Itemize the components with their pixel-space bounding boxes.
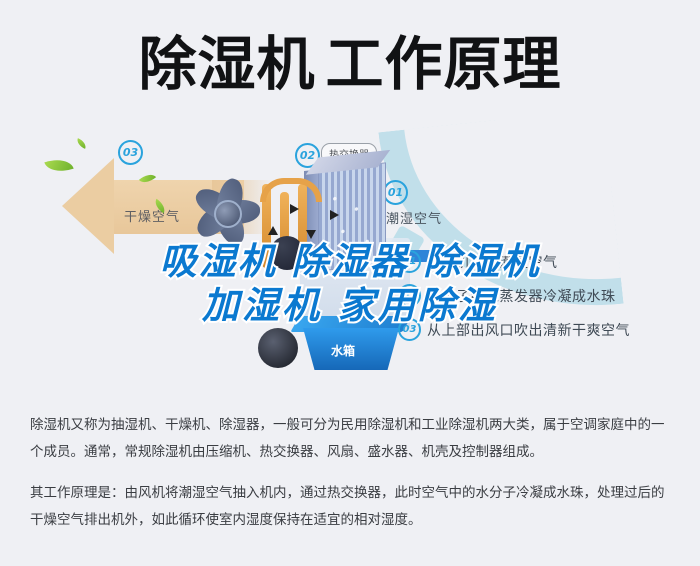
page-title: 除湿机工作原理 — [138, 35, 561, 93]
dry-air-arrow-head — [62, 158, 114, 254]
wheel-icon — [258, 328, 298, 368]
legend-number: 03 — [398, 318, 421, 341]
dry-air-label: 干燥空气 — [124, 206, 180, 225]
leaf-icon — [75, 138, 88, 149]
page-title-bar: 除湿机工作原理 — [0, 18, 700, 110]
dehumidifier-diagram: 干燥空气 03 02 01 热交换器 — [0, 118, 700, 400]
description-paragraph-2: 其工作原理是：由风机将潮湿空气抽入机内，通过热交换器，此时空气中的水分子冷凝成水… — [30, 480, 675, 534]
description-paragraph-1: 除湿机又称为抽湿机、干燥机、除湿器，一般可分为民用除湿机和工业除湿机两大类，属于… — [30, 412, 675, 466]
step-legend: 01 由风机吸入潮湿空气 02 水分子经过蒸发器冷凝成水珠 03 从上部出风口吹… — [398, 250, 698, 352]
legend-row: 03 从上部出风口吹出清新干爽空气 — [398, 318, 698, 341]
legend-number: 02 — [398, 284, 421, 307]
legend-text: 水分子经过蒸发器冷凝成水珠 — [427, 286, 616, 306]
water-tank-label: 水箱 — [331, 342, 355, 359]
infographic-page: 除湿机工作原理 干燥空气 03 02 01 热交换器 — [0, 0, 700, 566]
page-title-part1: 除湿机 — [138, 30, 315, 98]
compressor-icon — [270, 236, 304, 270]
legend-text: 从上部出风口吹出清新干爽空气 — [427, 320, 630, 340]
step-badge-03: 03 — [118, 140, 143, 165]
heat-exchanger-icon — [318, 163, 384, 270]
fan-hub — [214, 200, 242, 228]
flow-arrow-down-icon — [306, 230, 316, 239]
humid-air-label: 潮湿空气 — [386, 208, 442, 227]
fan-icon — [180, 166, 272, 258]
legend-row: 01 由风机吸入潮湿空气 — [398, 250, 698, 273]
flow-arrow-right-icon — [290, 204, 299, 214]
legend-text: 由风机吸入潮湿空气 — [427, 252, 558, 272]
step-badge-01: 01 — [383, 180, 408, 205]
flow-arrow-right-icon — [330, 210, 339, 220]
water-tank-icon: 水箱 — [295, 316, 407, 372]
legend-number: 01 — [398, 250, 421, 273]
legend-row: 02 水分子经过蒸发器冷凝成水珠 — [398, 284, 698, 307]
page-title-part2: 工作原理 — [326, 30, 562, 98]
description-text: 除湿机又称为抽湿机、干燥机、除湿器，一般可分为民用除湿机和工业除湿机两大类，属于… — [30, 412, 675, 548]
